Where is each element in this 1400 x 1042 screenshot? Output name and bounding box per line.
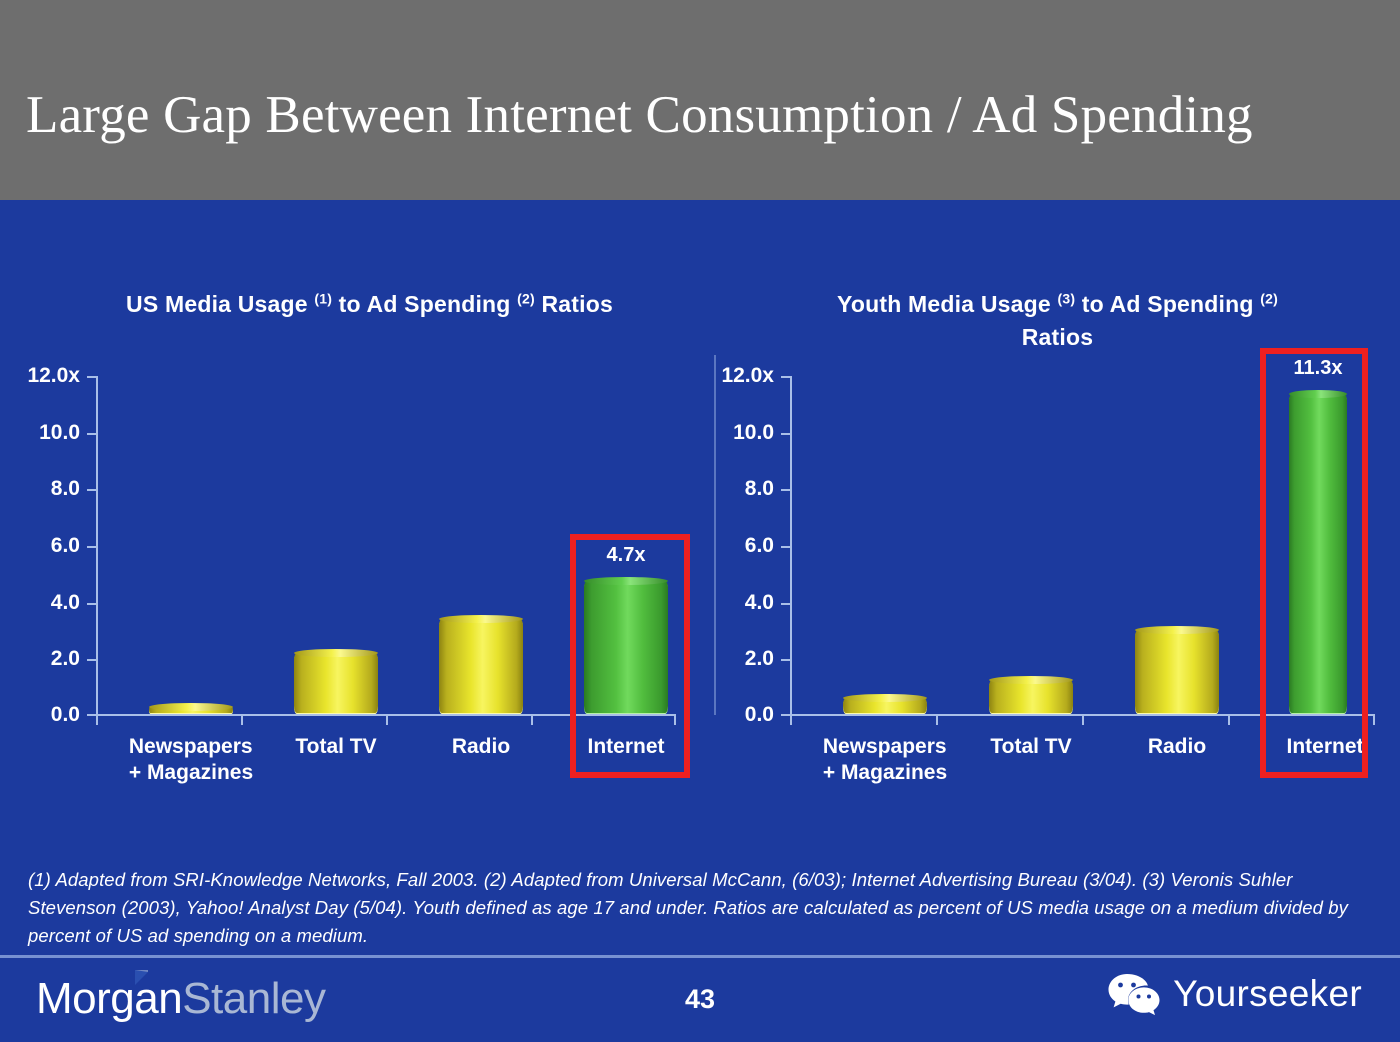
chart-title-line-2: Ratios (715, 321, 1400, 354)
brand-watermark: Yourseeker (1107, 972, 1362, 1016)
x-tick-2 (386, 716, 388, 725)
chart-panel-us-media-usage: US Media Usage (1) to Ad Spending (2) Ra… (0, 200, 715, 820)
y-tick-8 (781, 489, 791, 491)
bar-cap (1289, 390, 1347, 398)
chart-title-us: US Media Usage (1) to Ad Spending (2) Ra… (0, 288, 727, 321)
chart-title-text-a: US Media Usage (126, 291, 314, 317)
chart-title-superscript-3: (3) (1057, 290, 1075, 306)
x-label-total-tv: Total TV (295, 734, 376, 760)
chart-panel-youth-media-usage: Youth Media Usage (3) to Ad Spending (2)… (715, 200, 1400, 820)
x-tick-4 (674, 716, 676, 725)
x-tick-1 (241, 716, 243, 725)
y-tick-label-12: 12.0x (721, 364, 774, 388)
x-tick-3 (531, 716, 533, 725)
chart-title-text-a: Youth Media Usage (837, 291, 1057, 317)
x-label-newspapers-magazines: Newspapers + Magazines (823, 734, 947, 787)
x-tick-0 (96, 716, 98, 725)
y-tick-2 (87, 659, 97, 661)
y-tick-4 (87, 603, 97, 605)
y-tick-12 (87, 376, 97, 378)
y-tick-label-2: 2.0 (745, 647, 774, 671)
footnote: (1) Adapted from SRI-Knowledge Networks,… (28, 866, 1368, 950)
y-tick-label-0: 0.0 (51, 703, 80, 727)
chart-title-text-b: to Ad Spending (332, 291, 517, 317)
x-label-total-tv: Total TV (990, 734, 1071, 760)
wechat-icon (1107, 972, 1161, 1016)
bar-radio[interactable] (439, 619, 523, 714)
y-tick-10 (87, 433, 97, 435)
x-label-line-1: Newspapers (823, 734, 947, 760)
brand-name: Yourseeker (1173, 973, 1362, 1015)
chart-title-superscript-2: (2) (1260, 290, 1278, 306)
bar-newspapers-magazines[interactable] (843, 698, 927, 714)
bar-cap (989, 676, 1073, 684)
morgan-stanley-triangle-icon (135, 970, 148, 985)
x-label-internet: Internet (1286, 734, 1363, 760)
bar-value-internet: 11.3x (1294, 357, 1343, 380)
y-tick-4 (781, 603, 791, 605)
y-tick-label-2: 2.0 (51, 647, 80, 671)
y-tick-label-8: 8.0 (745, 477, 774, 501)
y-tick-8 (87, 489, 97, 491)
plot-area-us: 12.0x 10.0 8.0 6.0 4.0 2.0 0.0 (96, 376, 676, 716)
slide: Large Gap Between Internet Consumption /… (0, 0, 1400, 1042)
bar-total-tv[interactable] (989, 680, 1073, 714)
slide-body: US Media Usage (1) to Ad Spending (2) Ra… (0, 200, 1400, 1042)
bar-cap (1135, 626, 1219, 634)
y-tick-label-8: 8.0 (51, 477, 80, 501)
y-tick-label-0: 0.0 (745, 703, 774, 727)
y-tick-label-10: 10.0 (733, 421, 774, 445)
bar-cap (843, 694, 927, 702)
bar-value-internet: 4.7x (607, 544, 646, 567)
x-tick-3 (1228, 716, 1230, 725)
y-tick-label-4: 4.0 (745, 591, 774, 615)
x-label-line-1: Newspapers (129, 734, 253, 760)
bar-internet[interactable]: 4.7x (584, 581, 668, 714)
chart-title-superscript-2: (2) (517, 290, 535, 306)
bar-newspapers-magazines[interactable] (149, 707, 233, 714)
chart-title-text-c: Ratios (535, 291, 613, 317)
x-label-internet: Internet (587, 734, 664, 760)
chart-title-youth: Youth Media Usage (3) to Ad Spending (2)… (715, 288, 1400, 355)
y-tick-label-6: 6.0 (745, 534, 774, 558)
x-label-radio: Radio (1148, 734, 1206, 760)
y-tick-6 (781, 546, 791, 548)
y-tick-label-6: 6.0 (51, 534, 80, 558)
chart-title-superscript-1: (1) (314, 290, 332, 306)
x-tick-4 (1373, 716, 1375, 725)
bar-cap (584, 577, 668, 585)
plot-area-youth: 12.0x 10.0 8.0 6.0 4.0 2.0 0.0 (790, 376, 1375, 716)
x-tick-2 (1082, 716, 1084, 725)
y-tick-label-4: 4.0 (51, 591, 80, 615)
y-tick-label-10: 10.0 (39, 421, 80, 445)
footer-divider (0, 955, 1400, 958)
y-tick-10 (781, 433, 791, 435)
x-tick-0 (790, 716, 792, 725)
x-label-line-2: + Magazines (823, 760, 947, 786)
y-tick-6 (87, 546, 97, 548)
y-tick-12 (781, 376, 791, 378)
bar-internet[interactable]: 11.3x (1289, 394, 1347, 714)
y-tick-2 (781, 659, 791, 661)
bar-total-tv[interactable] (294, 653, 378, 714)
bar-cap (439, 615, 523, 623)
slide-footer: MorganStanley 43 Yourseeker (0, 962, 1400, 1042)
bar-cap (294, 649, 378, 657)
bar-cap (149, 703, 233, 711)
x-label-radio: Radio (452, 734, 510, 760)
chart-title-text-b: to Ad Spending (1075, 291, 1260, 317)
x-tick-1 (936, 716, 938, 725)
x-label-line-2: + Magazines (129, 760, 253, 786)
y-tick-label-12: 12.0x (27, 364, 80, 388)
page-title: Large Gap Between Internet Consumption /… (26, 88, 1386, 144)
bar-radio[interactable] (1135, 630, 1219, 714)
x-label-newspapers-magazines: Newspapers + Magazines (129, 734, 253, 787)
